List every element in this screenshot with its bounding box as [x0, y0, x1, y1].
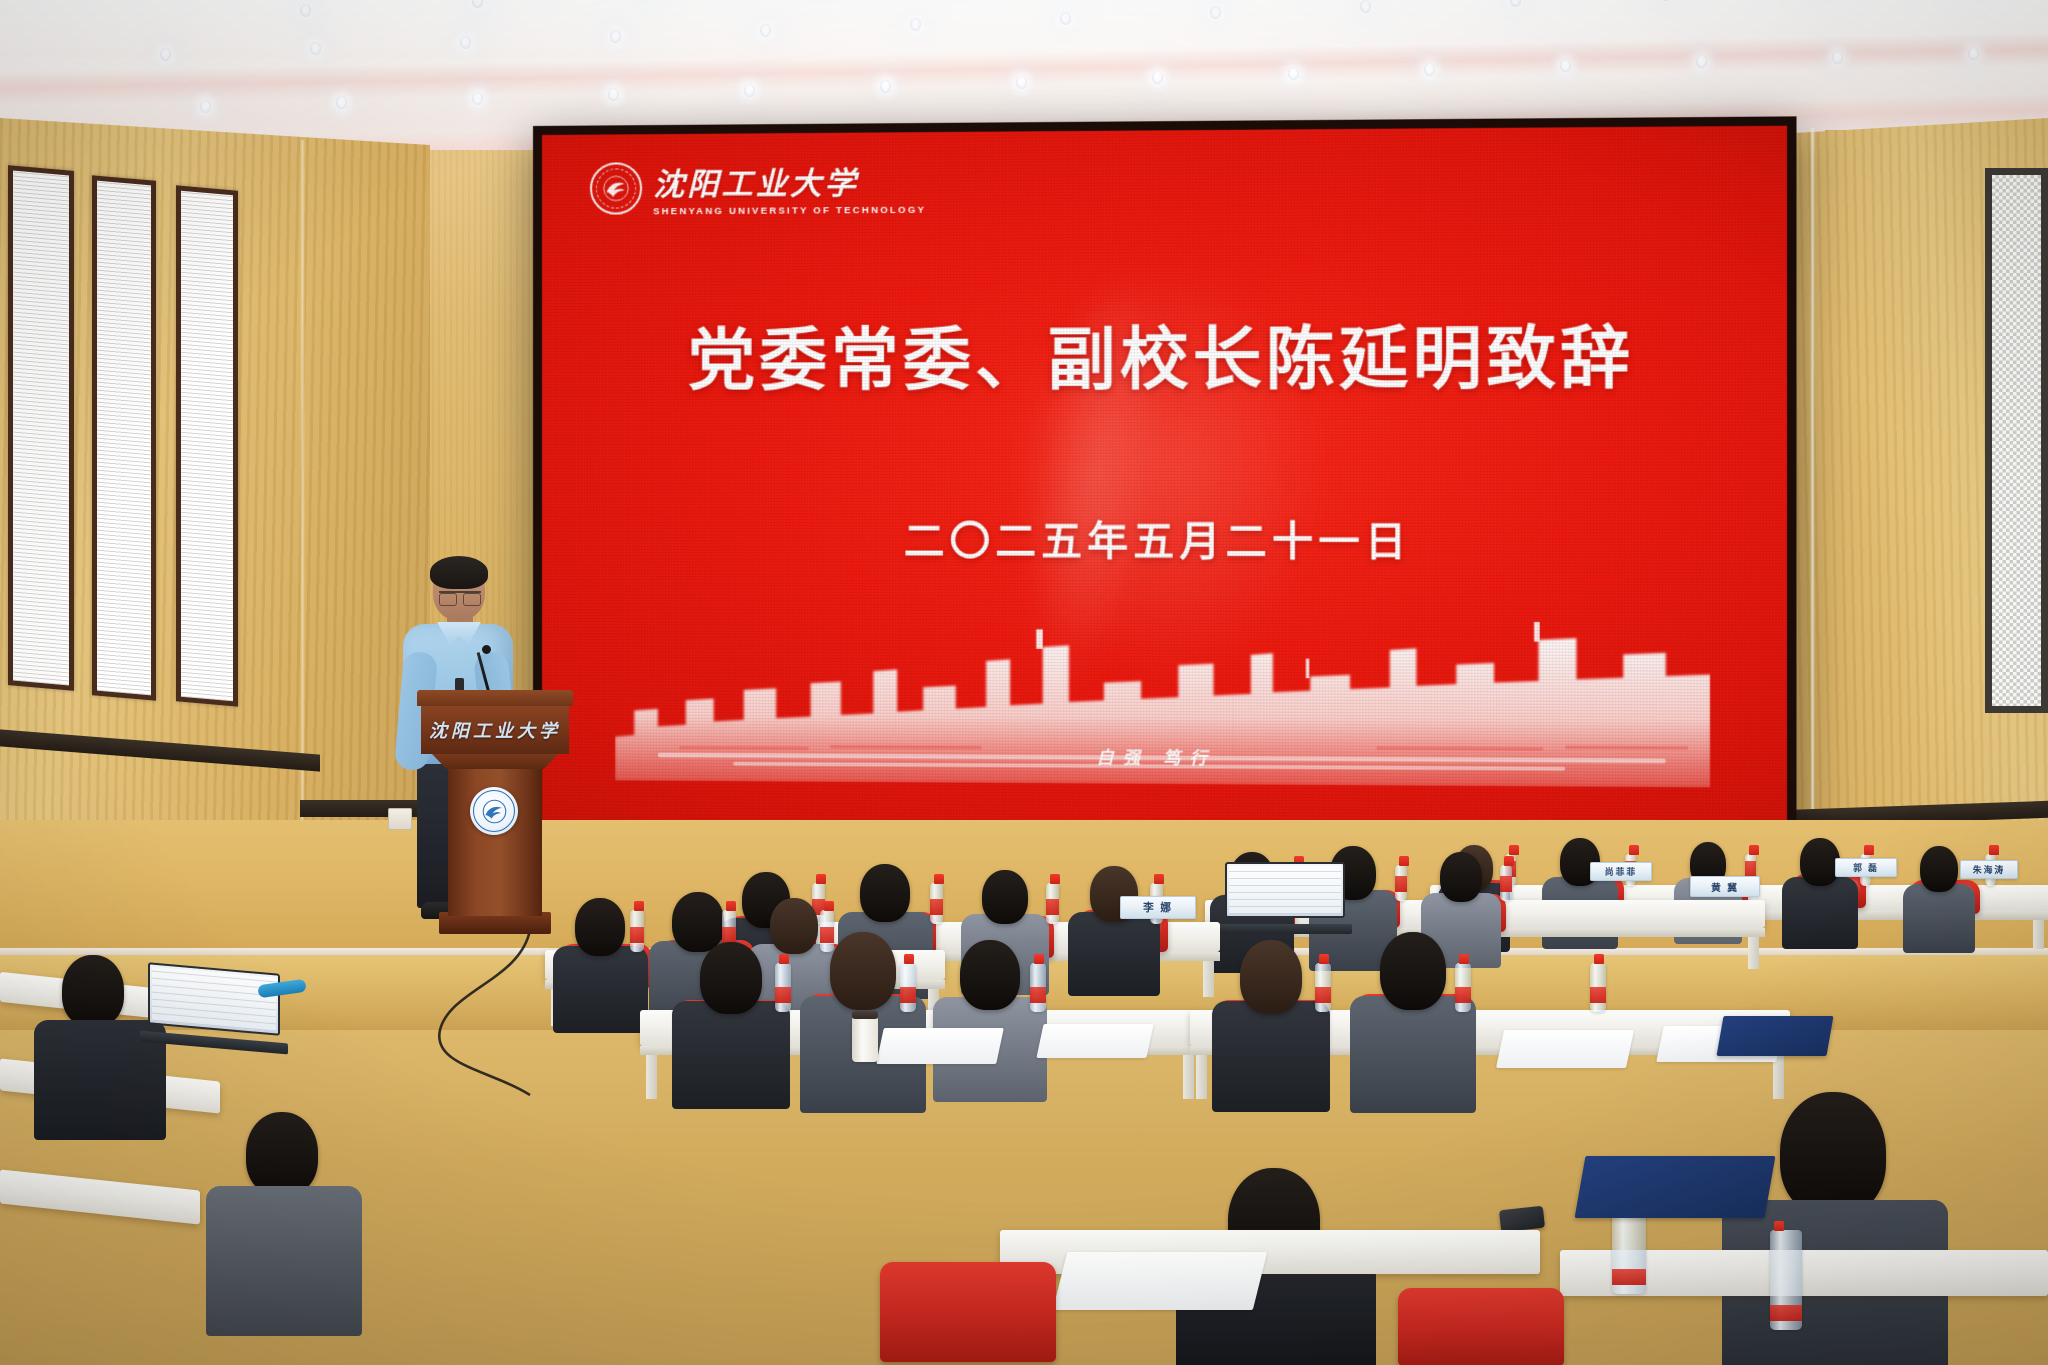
document-folder	[1575, 1156, 1776, 1218]
podium-head: 沈阳工业大学	[421, 704, 569, 754]
audience-person-head	[1800, 838, 1840, 886]
ceiling-downlight	[1210, 6, 1221, 19]
glasses-icon	[439, 591, 481, 603]
audience-person-head	[960, 940, 1020, 1010]
water-bottle[interactable]	[820, 910, 834, 952]
ceiling-downlight	[200, 100, 211, 113]
ceiling-downlight	[160, 48, 171, 61]
audience-person-head	[672, 892, 724, 952]
wall-corner-seam	[1810, 128, 1815, 828]
document-sheet	[1036, 1024, 1153, 1058]
ceiling-downlight	[1060, 12, 1071, 25]
acoustic-panel-left-1	[8, 165, 74, 691]
desk-leg	[1748, 937, 1759, 969]
audience-person-head	[246, 1112, 318, 1196]
water-bottle[interactable]	[1046, 883, 1059, 924]
ceiling-downlight	[460, 36, 471, 49]
desk-leg	[646, 1055, 657, 1099]
speaker-hair	[430, 556, 488, 589]
name-placard: 朱海涛	[1960, 860, 2018, 879]
ceiling-downlight	[608, 88, 619, 101]
podium-name-plate: 沈阳工业大学	[421, 717, 569, 743]
audience-person-head	[1920, 846, 1958, 892]
acoustic-panel-right-1	[1985, 168, 2048, 713]
ceiling-downlight	[1360, 0, 1371, 13]
laptop-computer[interactable]	[148, 962, 280, 1054]
audience-person-body	[1903, 884, 1975, 953]
document-sheet	[876, 1028, 1004, 1064]
ceiling-downlight	[910, 18, 921, 31]
audience-person-head	[575, 898, 625, 956]
audience-chair[interactable]	[1398, 1288, 1564, 1365]
document-sheet	[1496, 1030, 1634, 1068]
desk-leg	[1183, 1055, 1194, 1099]
podium-microphone-icon	[482, 645, 491, 654]
audience-person-head	[62, 955, 124, 1027]
water-bottle[interactable]	[1030, 963, 1046, 1012]
podium-bevel	[431, 753, 559, 769]
laptop-screen-content	[152, 967, 276, 1032]
audience-person-head	[830, 932, 896, 1010]
wall-corner-seam-left	[300, 140, 305, 830]
document-folder	[1716, 1016, 1833, 1056]
thermos-tumbler[interactable]	[852, 1016, 878, 1062]
water-bottle[interactable]	[1315, 963, 1331, 1012]
ceiling-downlight	[610, 30, 621, 43]
ceiling-downlight	[336, 96, 347, 109]
acoustic-panel-left-2	[92, 175, 156, 701]
laptop-screen[interactable]	[1225, 862, 1345, 918]
ceiling-downlight	[1832, 51, 1843, 64]
acoustic-panel-left-3	[176, 185, 238, 706]
podium-top-surface	[417, 690, 573, 706]
water-bottle[interactable]	[1770, 1230, 1802, 1330]
desk-leg	[1196, 1055, 1207, 1099]
water-bottle[interactable]	[1500, 865, 1512, 901]
audience-person-head	[1780, 1092, 1886, 1216]
desk-leg	[1203, 961, 1214, 997]
ceiling-downlight	[880, 80, 891, 93]
laptop-keyboard-base[interactable]	[1218, 924, 1352, 934]
document-sheet	[1053, 1252, 1267, 1310]
presentation-slide[interactable]: 沈阳工业大学 SHENYANG UNIVERSITY OF TECHNOLOGY…	[542, 126, 1787, 836]
audience-person-head	[1440, 852, 1482, 902]
audience-person-head	[1380, 932, 1446, 1010]
slide-date: 二〇二五年五月二十一日	[542, 508, 1787, 568]
audience-person-head	[700, 942, 762, 1014]
audience-person-body	[672, 1001, 790, 1109]
water-bottle[interactable]	[630, 910, 644, 952]
logo-english-name: SHENYANG UNIVERSITY OF TECHNOLOGY	[653, 205, 926, 218]
laptop-screen-content	[1229, 866, 1341, 914]
audience-chair[interactable]	[880, 1262, 1056, 1362]
ceiling-downlight	[760, 24, 771, 37]
ceiling-downlight	[310, 42, 321, 55]
logo-chinese-name: 沈阳工业大学	[653, 157, 926, 204]
university-crest-icon	[590, 162, 642, 214]
led-display-bezel: 沈阳工业大学 SHENYANG UNIVERSITY OF TECHNOLOGY…	[533, 116, 1796, 845]
audience-person-body	[1782, 877, 1858, 949]
podium: 沈阳工业大学	[417, 690, 573, 940]
slide-title: 党委常委、副校长陈延明致辞	[542, 302, 1787, 404]
name-placard: 黄 冀	[1690, 876, 1760, 897]
water-bottle[interactable]	[930, 883, 943, 924]
ceiling-downlight	[744, 84, 755, 97]
laptop-screen[interactable]	[148, 962, 280, 1036]
audience-person-head	[860, 864, 910, 922]
audience-person-body	[206, 1186, 362, 1336]
audience-person-head	[770, 898, 818, 954]
water-bottle[interactable]	[775, 963, 791, 1012]
slide-university-logo: 沈阳工业大学 SHENYANG UNIVERSITY OF TECHNOLOGY	[590, 157, 926, 217]
water-bottle[interactable]	[1455, 963, 1471, 1012]
smartphone[interactable]	[1499, 1206, 1545, 1232]
audience-person-body	[553, 946, 648, 1033]
name-placard: 郭 磊	[1835, 858, 1897, 877]
audience-person-head	[982, 870, 1028, 924]
lecture-hall-scene: 沈阳工业大学 SHENYANG UNIVERSITY OF TECHNOLOGY…	[0, 0, 2048, 1365]
ceiling-downlight	[300, 4, 311, 17]
audience-person-body	[1350, 996, 1475, 1113]
water-bottle[interactable]	[1395, 865, 1407, 901]
ceiling-downlight	[472, 92, 483, 105]
laptop-computer[interactable]	[1225, 862, 1345, 934]
water-bottle[interactable]	[1590, 963, 1606, 1012]
name-placard: 尚菲菲	[1590, 862, 1652, 881]
desk-leg	[2033, 920, 2044, 949]
audience-person-body	[1212, 1001, 1330, 1112]
audience-person-body	[1068, 912, 1159, 996]
ceiling-downlight	[1968, 47, 1979, 60]
ceiling-downlight	[1016, 76, 1027, 89]
university-emblem-icon	[470, 787, 518, 835]
name-placard: 李 娜	[1120, 896, 1196, 919]
audience-person-head	[1240, 940, 1302, 1014]
water-bottle[interactable]	[900, 963, 916, 1012]
